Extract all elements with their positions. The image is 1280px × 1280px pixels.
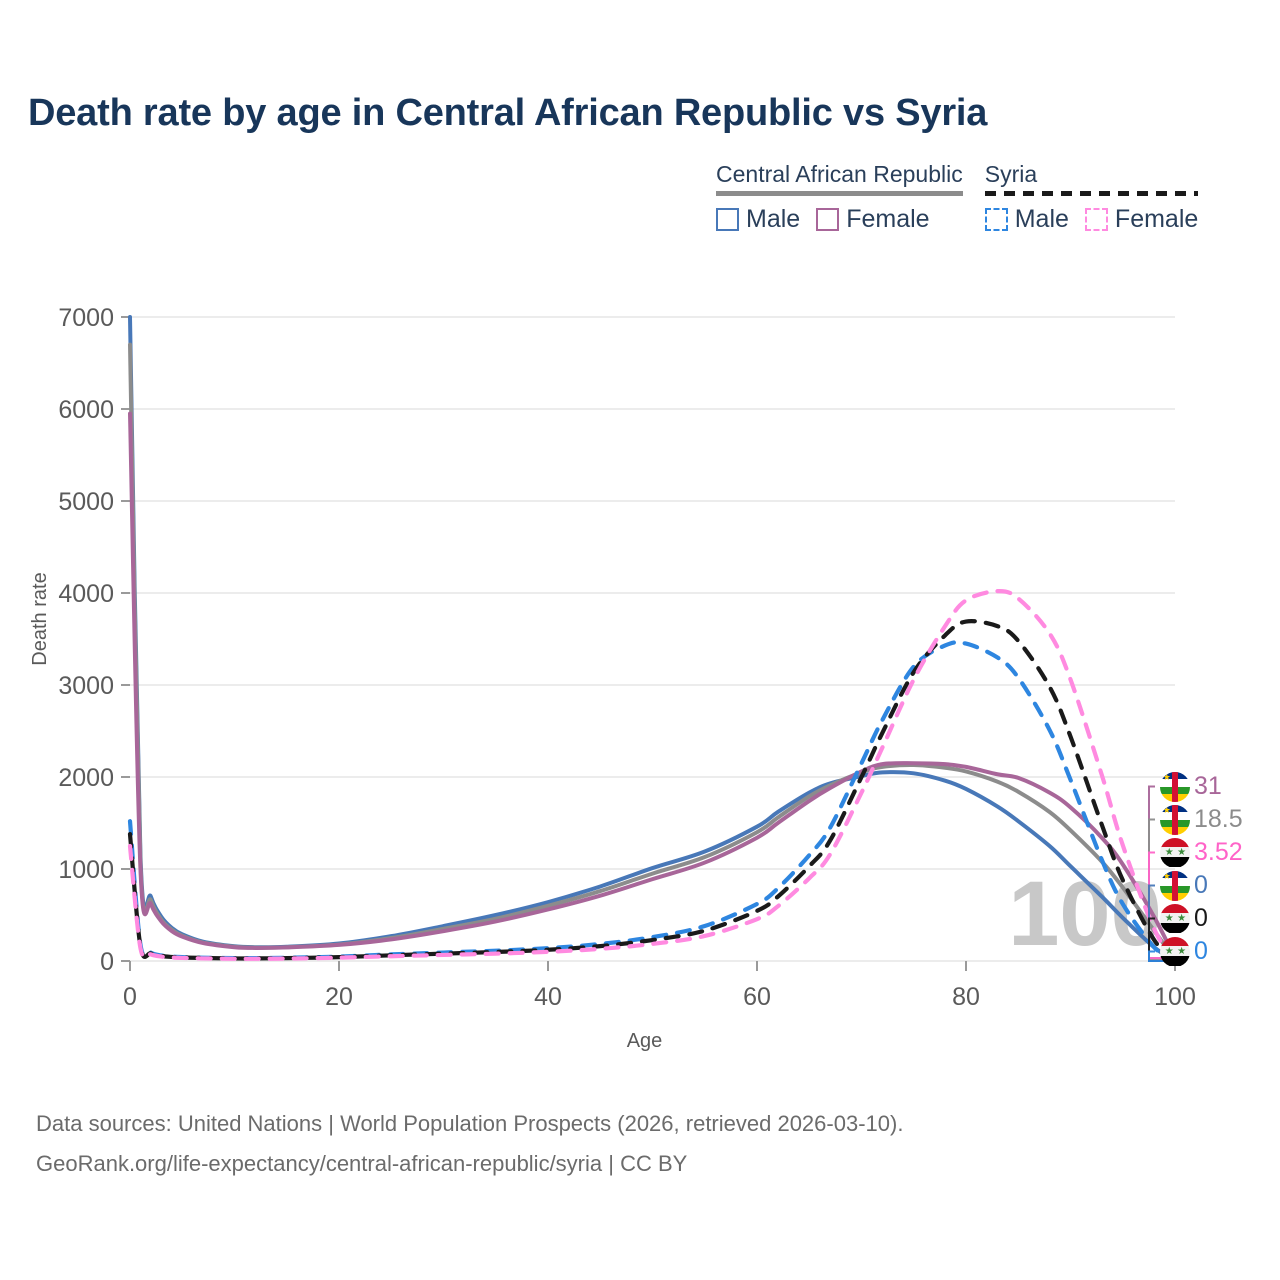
end-value-row: ★★0 — [1160, 935, 1280, 968]
series-line-central-african-republic-female — [130, 414, 1175, 959]
syria-flag: ★★ — [1160, 904, 1190, 934]
end-value-row: ★★0 — [1160, 902, 1280, 935]
legend-swatch-syria-male — [985, 208, 1008, 231]
legend-swatch-car-female — [816, 208, 839, 231]
x-axis-tick-label: 40 — [534, 983, 562, 1011]
legend-label-syria-female: Female — [1115, 205, 1198, 234]
central-african-republic-flag: ★ — [1160, 772, 1190, 802]
legend-rule-dashed — [985, 191, 1199, 196]
legend-group-syria: Syria Male Female — [985, 162, 1199, 234]
legend-label-syria-male: Male — [1015, 205, 1069, 234]
chart-page: Death rate by age in Central African Rep… — [0, 0, 1280, 1280]
end-value-row: ★31 — [1160, 770, 1280, 803]
legend-swatch-syria-female — [1085, 208, 1108, 231]
syria-flag: ★★ — [1160, 838, 1190, 868]
legend-label-car-female: Female — [846, 205, 929, 234]
legend-group-title-car: Central African Republic — [716, 162, 963, 188]
y-axis-tick-label: 7000 — [58, 304, 114, 332]
y-axis-tick-label: 3000 — [58, 672, 114, 700]
end-value-row: ★0 — [1160, 869, 1280, 902]
end-value-label: 3.52 — [1194, 838, 1243, 867]
central-african-republic-flag: ★ — [1160, 805, 1190, 835]
legend-item-car-female[interactable]: Female — [816, 205, 929, 234]
x-axis-tick-label: 60 — [743, 983, 771, 1011]
series-line-central-african-republic-total — [130, 345, 1175, 960]
end-value-label: 0 — [1194, 937, 1208, 966]
legend-item-syria-female[interactable]: Female — [1085, 205, 1198, 234]
end-value-label: 0 — [1194, 904, 1208, 933]
x-axis-tick-label: 0 — [123, 983, 137, 1011]
end-value-label: 31 — [1194, 772, 1222, 801]
series-line-syria-total — [130, 621, 1175, 961]
chart-legend: Central African Republic Male Female Syr… — [716, 162, 1256, 246]
series-line-syria-male — [130, 642, 1175, 961]
series-line-syria-female — [130, 591, 1175, 961]
end-value-row: ★★3.52 — [1160, 836, 1280, 869]
y-axis-tick-label: 6000 — [58, 396, 114, 424]
legend-rule-solid — [716, 191, 963, 196]
central-african-republic-flag: ★ — [1160, 871, 1190, 901]
y-axis-tick-label: 1000 — [58, 856, 114, 884]
page-title: Death rate by age in Central African Rep… — [28, 92, 987, 135]
legend-swatch-car-male — [716, 208, 739, 231]
syria-flag: ★★ — [1160, 937, 1190, 967]
y-axis-tick-label: 4000 — [58, 580, 114, 608]
legend-group-title-syria: Syria — [985, 162, 1199, 188]
footer: Data sources: United Nations | World Pop… — [36, 1104, 1236, 1184]
x-axis-tick-label: 80 — [952, 983, 980, 1011]
footer-url-license[interactable]: GeoRank.org/life-expectancy/central-afri… — [36, 1144, 1236, 1184]
y-axis-tick-label: 5000 — [58, 488, 114, 516]
legend-item-syria-male[interactable]: Male — [985, 205, 1069, 234]
legend-label-car-male: Male — [746, 205, 800, 234]
y-axis-tick-label: 2000 — [58, 764, 114, 792]
y-axis-tick-label: 0 — [100, 948, 114, 976]
end-value-row: ★18.5 — [1160, 803, 1280, 836]
legend-group-car: Central African Republic Male Female — [716, 162, 963, 234]
legend-item-car-male[interactable]: Male — [716, 205, 800, 234]
end-value-label: 0 — [1194, 871, 1208, 900]
end-value-labels: ★31★18.5★★3.52★0★★0★★0 — [1160, 770, 1280, 968]
watermark-text: 100 — [1008, 863, 1162, 965]
end-value-label: 18.5 — [1194, 805, 1243, 834]
series-line-central-african-republic-male — [130, 317, 1175, 961]
x-axis-tick-label: 20 — [325, 983, 353, 1011]
x-axis-title: Age — [627, 1030, 663, 1052]
x-axis-tick-label: 100 — [1154, 983, 1196, 1011]
footer-data-sources: Data sources: United Nations | World Pop… — [36, 1104, 1236, 1144]
y-axis-title: Death rate — [29, 572, 51, 665]
